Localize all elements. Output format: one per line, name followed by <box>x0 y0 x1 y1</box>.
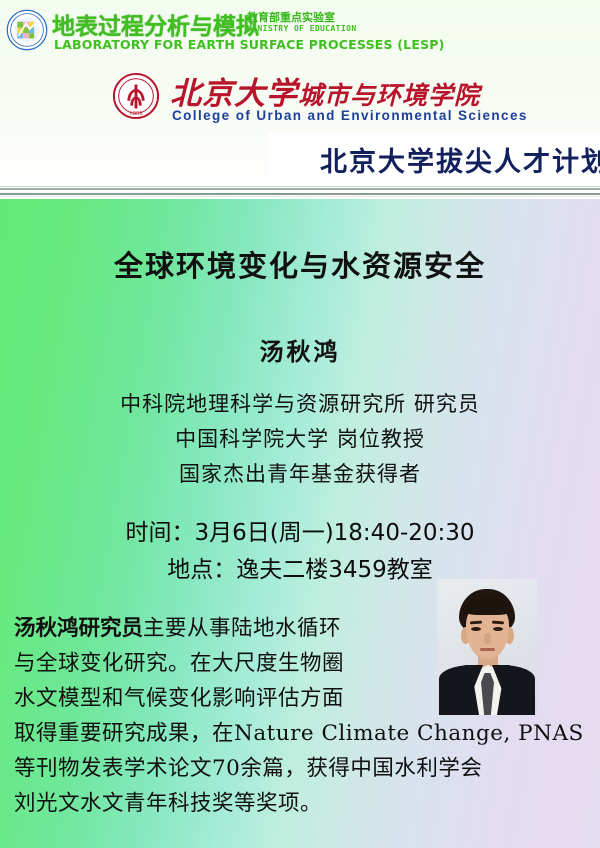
university-name-cn: 北京大学城市与环境学院 <box>170 68 480 113</box>
lab-identity-row: 地表过程分析与模拟 教育部重点实验室 MINISTRY OF EDUCATION… <box>4 6 474 52</box>
lab-name-en: LABORATORY FOR EARTH SURFACE PROCESSES (… <box>54 37 445 52</box>
bio-line-1: 主要从事陆地水循环 <box>143 616 341 641</box>
university-identity-row: 1898 北京大学城市与环境学院 College of Urban and En… <box>112 70 492 128</box>
talk-time: 时间：3月6日(周一)18:40-20:30 <box>0 513 600 547</box>
bio-line-2: 与全球变化研究。在大尺度生物圈 <box>14 646 586 681</box>
peking-university-seal-icon: 1898 <box>112 72 160 120</box>
speaker-affiliation-3: 国家杰出青年基金获得者 <box>0 458 600 488</box>
university-name-en: College of Urban and Environmental Scien… <box>172 108 528 123</box>
bio-line-6: 刘光文水文青年科技奖等奖项。 <box>14 786 586 821</box>
lab-ministry-cn: 教育部重点实验室 <box>247 9 335 25</box>
speaker-affiliation-2: 中国科学院大学 岗位教授 <box>0 423 600 453</box>
speaker-bio: 汤秋鸿研究员主要从事陆地水循环 与全球变化研究。在大尺度生物圈 水文模型和气候变… <box>14 611 586 821</box>
bio-lead: 汤秋鸿研究员 <box>14 616 143 641</box>
lesp-circular-seal-icon <box>6 9 48 51</box>
seminar-poster: 地表过程分析与模拟 教育部重点实验室 MINISTRY OF EDUCATION… <box>0 0 600 848</box>
bio-line-5: 等刊物发表学术论文70余篇，获得中国水利学会 <box>14 751 586 786</box>
header-divider <box>0 186 600 200</box>
talk-title: 全球环境变化与水资源安全 <box>0 243 600 285</box>
svg-text:1898: 1898 <box>129 111 142 117</box>
lab-name-cn: 地表过程分析与模拟 <box>52 7 259 41</box>
speaker-name: 汤秋鸿 <box>0 332 600 367</box>
bio-line-4: 取得重要研究成果，在Nature Climate Change, PNAS <box>14 716 586 751</box>
speaker-affiliation-1: 中科院地理科学与资源研究所 研究员 <box>0 388 600 418</box>
bio-line-3: 水文模型和气候变化影响评估方面 <box>14 681 586 716</box>
header-banner: 地表过程分析与模拟 教育部重点实验室 MINISTRY OF EDUCATION… <box>0 0 600 188</box>
program-title: 北京大学拔尖人才计划 <box>320 140 600 179</box>
lab-ministry-en: MINISTRY OF EDUCATION <box>247 24 357 33</box>
